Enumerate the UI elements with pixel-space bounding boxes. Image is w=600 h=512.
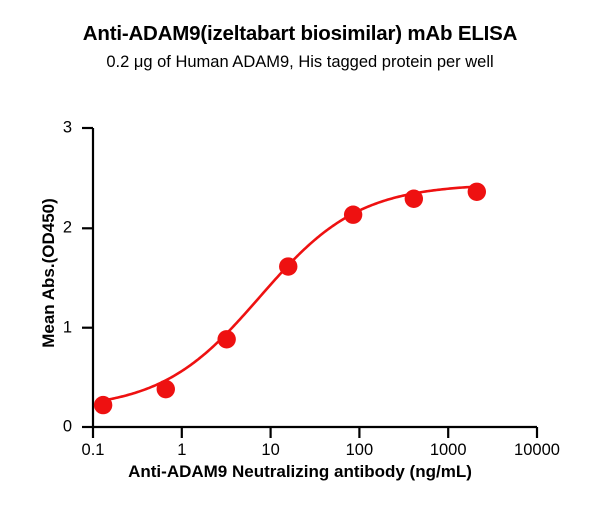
- x-tick-label-2: 10: [261, 441, 279, 460]
- data-point-markers: [94, 183, 486, 415]
- data-point: [468, 183, 486, 201]
- x-axis-title: Anti-ADAM9 Neutralizing antibody (ng/mL): [0, 462, 600, 482]
- x-tick-label-5: 10000: [514, 441, 560, 460]
- data-point: [217, 330, 235, 348]
- y-axis-title: Mean Abs.(OD450): [39, 153, 59, 393]
- y-tick-label-3: 3: [50, 119, 72, 138]
- x-tick-label-3: 100: [346, 441, 374, 460]
- y-axis-ticks: [82, 128, 93, 427]
- x-tick-label-0: 0.1: [82, 441, 105, 460]
- y-tick-label-0: 0: [50, 418, 72, 437]
- x-tick-label-1: 1: [177, 441, 186, 460]
- data-point: [279, 257, 297, 275]
- x-tick-label-4: 1000: [430, 441, 467, 460]
- elisa-chart-figure: Anti-ADAM9(izeltabart biosimilar) mAb EL…: [0, 0, 600, 512]
- data-fit-curve: [103, 187, 477, 401]
- data-point: [94, 396, 112, 414]
- plot-area: [0, 0, 600, 512]
- data-point: [405, 190, 423, 208]
- data-point: [344, 206, 362, 224]
- data-point: [157, 380, 175, 398]
- x-axis-ticks: [93, 427, 537, 438]
